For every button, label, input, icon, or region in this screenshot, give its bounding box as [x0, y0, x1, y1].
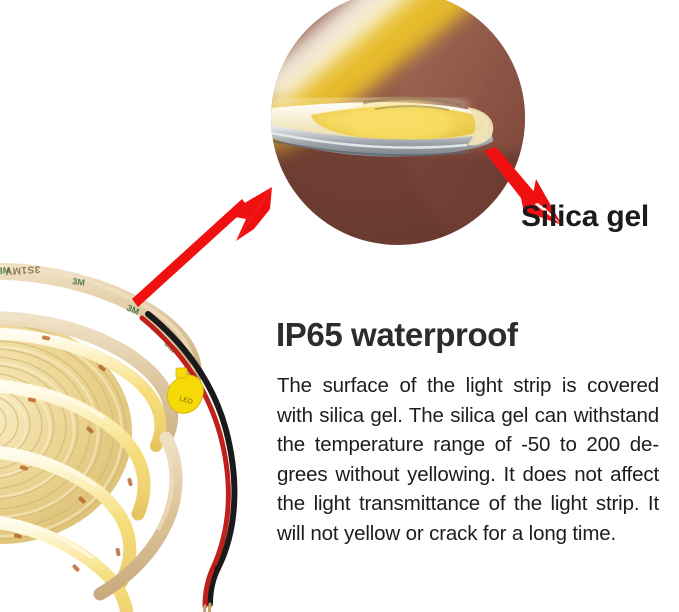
description-line: will not yellow or crack for a long time…: [277, 519, 659, 549]
description-line: grees without yellowing. It does not aff…: [277, 460, 659, 490]
feature-heading: IP65 waterproof: [276, 316, 518, 354]
feature-description: The surface of the light strip is covere…: [277, 371, 659, 549]
description-line: with silica gel. The silica gel can with…: [277, 401, 659, 431]
arrow-pointing-to-magnifier: [120, 185, 290, 315]
reel-spiral-turn-5: [0, 516, 127, 612]
svg-text:3M: 3M: [72, 276, 86, 288]
product-feature-image: 3M 3M 3M 3M 3M 3S1MV 3S1MV: [0, 0, 679, 612]
silica-gel-label: Silica gel: [521, 200, 649, 234]
description-line: the light transmittance of the light str…: [277, 489, 659, 519]
description-line: the temperature range of -50 to 200 de-: [277, 430, 659, 460]
lead-wires: [142, 314, 234, 612]
description-line: The surface of the light strip is covere…: [277, 371, 659, 401]
